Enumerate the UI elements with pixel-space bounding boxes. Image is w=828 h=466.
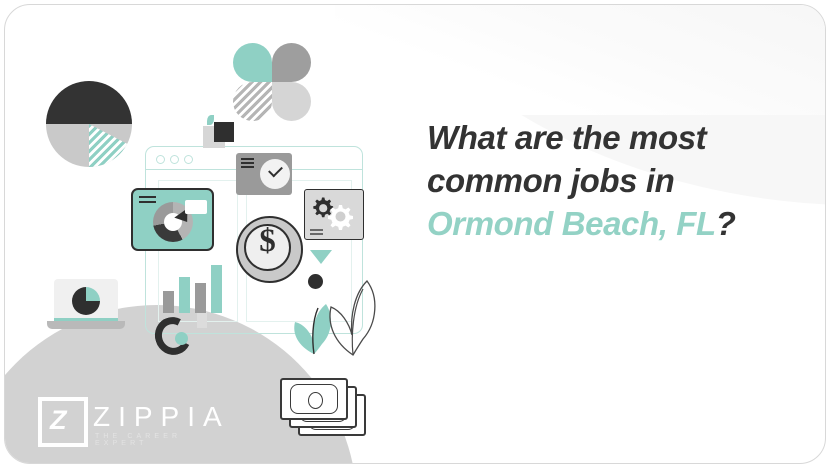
- card-text-line: [241, 162, 254, 164]
- bar-item: [195, 283, 206, 313]
- flower-petal-grey: [272, 43, 311, 82]
- headline-line-2: common jobs in: [427, 162, 674, 199]
- headline-line-1: What are the most: [427, 119, 706, 156]
- card-text-line: [139, 201, 156, 203]
- promo-card: $: [4, 4, 826, 464]
- decorative-square-small: [197, 311, 207, 328]
- laptop-screen: [54, 279, 118, 321]
- bar-item: [163, 291, 174, 313]
- mini-leaf-icon: [207, 115, 214, 125]
- flower-petal-light: [272, 82, 311, 121]
- browser-dot-icon: [156, 155, 165, 164]
- laptop-pie-chart: [72, 287, 100, 315]
- laptop-icon: [47, 279, 125, 331]
- pie-slice-striped: [89, 124, 132, 167]
- logo-wordmark: ZIPPIA: [93, 401, 230, 433]
- dollar-sign: $: [246, 223, 289, 260]
- dollar-coin-icon: $: [236, 216, 303, 283]
- browser-dot-icon: [170, 155, 179, 164]
- flower-petal-striped: [233, 82, 272, 121]
- teal-triangle-icon: [310, 250, 332, 264]
- logo-tagline: THE CAREER EXPERT: [95, 433, 228, 447]
- banknote: [280, 378, 348, 420]
- zippia-logo[interactable]: Z ZIPPIA THE CAREER EXPERT: [38, 395, 228, 447]
- magnet-ball-icon: [175, 332, 188, 345]
- logo-mark-icon: Z: [38, 397, 88, 447]
- logo-letter: Z: [50, 408, 72, 432]
- money-stack-icon: [280, 378, 364, 438]
- card-text-line: [139, 196, 156, 198]
- card-text-line: [241, 158, 254, 160]
- flower-petal-teal: [233, 43, 272, 82]
- dark-dot-icon: [308, 274, 323, 289]
- headline-location: Ormond Beach, FL: [427, 205, 716, 242]
- bar-item: [179, 277, 190, 313]
- settings-gear-card: [304, 189, 364, 240]
- decorative-square-dark: [214, 122, 234, 142]
- bar-item: [211, 265, 222, 313]
- card-tooltip-box: [185, 200, 207, 214]
- laptop-base: [47, 321, 125, 329]
- donut-chart-card: [131, 188, 214, 251]
- card-text-line: [310, 229, 323, 231]
- flower-shape-icon: [233, 43, 311, 121]
- coin-inner-ring: $: [244, 224, 291, 271]
- browser-dot-icon: [184, 155, 193, 164]
- card-text-line: [310, 233, 323, 235]
- pie-slice-dark: [46, 81, 132, 124]
- bar-chart-icon: [163, 261, 227, 313]
- background-swoosh-secondary: [335, 4, 826, 115]
- page-title: What are the most common jobs in Ormond …: [427, 117, 807, 246]
- headline-question-mark: ?: [716, 205, 736, 242]
- check-circle-icon: [260, 159, 290, 189]
- checkmark-card: [236, 153, 292, 195]
- pie-chart-icon: [46, 81, 132, 167]
- leaf-outline-icon: [323, 277, 383, 357]
- card-text-line: [241, 166, 254, 168]
